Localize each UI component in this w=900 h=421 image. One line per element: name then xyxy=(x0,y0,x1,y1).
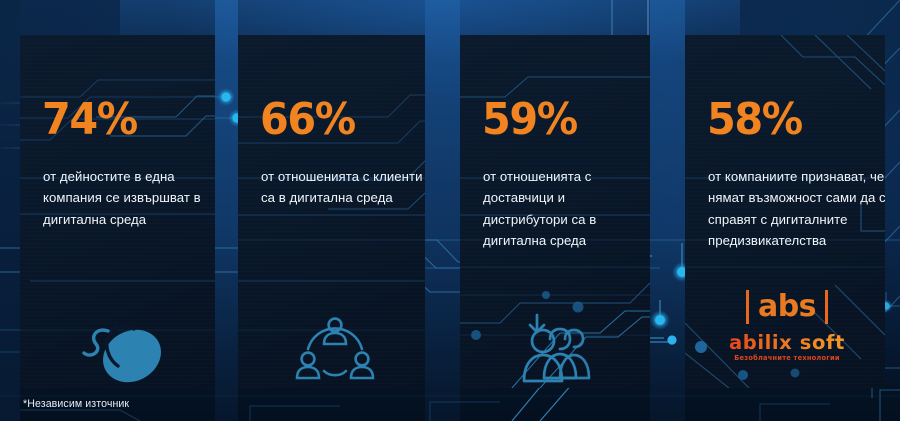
stat-description: от отношенията с клиенти са в дигитална … xyxy=(261,166,425,209)
stat-description: от отношенията с доставчици и дистрибуто… xyxy=(483,166,650,252)
logo-tagline: Безоблачните технологии xyxy=(722,355,852,362)
stat-percent: 66% xyxy=(260,98,355,142)
logo-left-bar-icon xyxy=(746,290,749,324)
logo-right-bar-icon xyxy=(825,290,828,324)
circuit-node xyxy=(667,335,676,344)
source-footnote: *Независим източник xyxy=(23,398,129,410)
computer-mouse-icon xyxy=(82,311,168,388)
logo-company-name: abilix soft xyxy=(722,333,852,353)
logo-mark-row: abs xyxy=(722,287,852,327)
infographic-canvas: 74% от дейностите в една компания се изв… xyxy=(0,0,900,421)
people-network-icon xyxy=(294,313,376,387)
stat-percent: 58% xyxy=(707,98,802,142)
stat-percent: 59% xyxy=(482,98,577,142)
logo-mark-text: abs xyxy=(758,292,816,322)
stat-description: от компаниите признават, че нямат възмож… xyxy=(708,166,885,252)
stat-card-3: 59% от отношенията с доставчици и дистри… xyxy=(460,35,650,388)
company-logo: abs abilix soft Безоблачните технологии xyxy=(722,287,852,365)
group-arrow-down-icon xyxy=(512,311,600,388)
stat-percent: 74% xyxy=(42,98,137,142)
stat-card-1: 74% от дейностите в една компания се изв… xyxy=(20,35,215,388)
stat-card-2: 66% от отношенията с клиенти са в дигита… xyxy=(238,35,425,388)
stat-description: от дейностите в една компания се извършв… xyxy=(43,166,213,230)
